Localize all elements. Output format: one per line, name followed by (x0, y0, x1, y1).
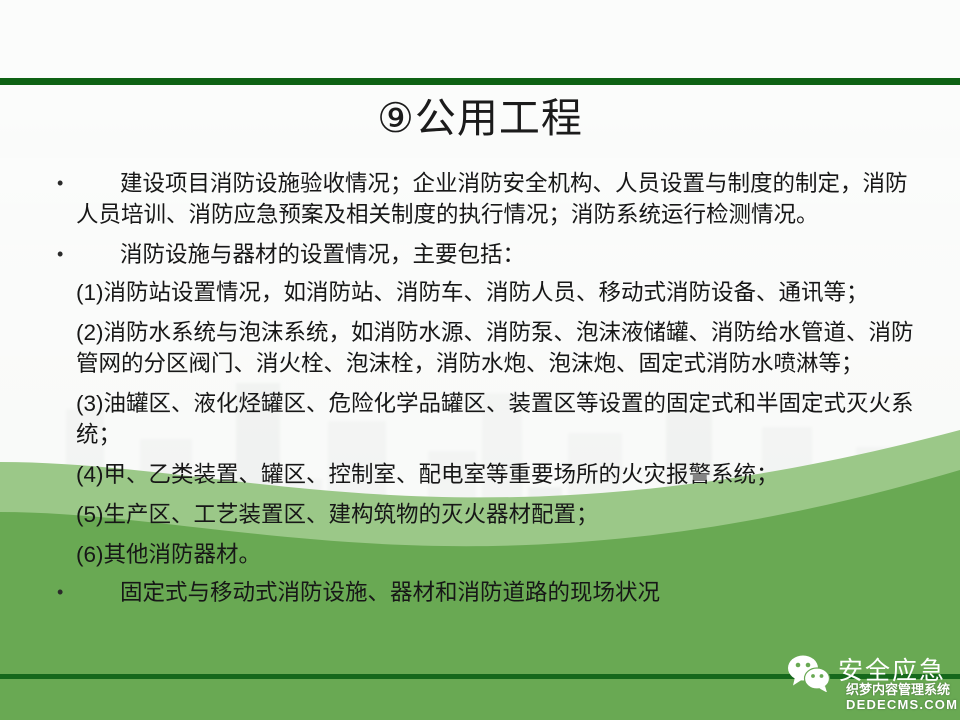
spacer (48, 270, 928, 275)
slide-canvas: ⑨公用工程 • 建设项目消防设施验收情况；企业消防安全机构、人员设置与制度的制定… (0, 0, 960, 720)
spacer (48, 230, 928, 239)
bullet-item: • 固定式与移动式消防设施、器材和消防道路的现场状况 (48, 577, 928, 608)
cms-watermark-cn: 织梦内容管理系统 (846, 682, 950, 697)
cms-watermark-en: DEDECMS.COM (846, 697, 958, 712)
spacer (48, 381, 928, 386)
bullet-text: 建设项目消防设施验收情况；企业消防安全机构、人员设置与制度的制定，消防人员培训、… (76, 168, 928, 230)
spacer (48, 492, 928, 497)
bullet-text: 消防设施与器材的设置情况，主要包括： (76, 239, 928, 270)
bullet-marker-icon: • (48, 168, 76, 199)
spacer (48, 452, 928, 457)
slide-body: • 建设项目消防设施验收情况；企业消防安全机构、人员设置与制度的制定，消防人员培… (48, 168, 928, 608)
bullet-item: • 消防设施与器材的设置情况，主要包括： (48, 239, 928, 270)
sub-item: (4)甲、乙类装置、罐区、控制室、配电室等重要场所的火灾报警系统； (76, 459, 928, 490)
bullet-marker-icon: • (48, 577, 76, 608)
sub-item: (5)生产区、工艺装置区、建构筑物的灭火器材配置； (76, 499, 928, 530)
watermark: 安全应急 织梦内容管理系统 DEDECMS.COM (786, 652, 958, 714)
sub-item: (3)油罐区、液化烃罐区、危险化学品罐区、装置区等设置的固定式和半固定式灭火系统… (76, 388, 928, 450)
sub-item: (2)消防水系统与泡沫系统，如消防水源、消防泵、泡沫液储罐、消防给水管道、消防管… (76, 317, 928, 379)
page-title: ⑨公用工程 (0, 95, 960, 142)
spacer (48, 310, 928, 315)
sub-item: (6)其他消防器材。 (76, 539, 928, 570)
top-green-rule (0, 78, 960, 85)
bullet-text: 固定式与移动式消防设施、器材和消防道路的现场状况 (76, 577, 928, 608)
bullet-item: • 建设项目消防设施验收情况；企业消防安全机构、人员设置与制度的制定，消防人员培… (48, 168, 928, 230)
spacer (48, 532, 928, 537)
sub-item: (1)消防站设置情况，如消防站、消防车、消防人员、移动式消防设备、通讯等； (76, 277, 928, 308)
wechat-icon (786, 654, 832, 692)
bullet-marker-icon: • (48, 239, 76, 270)
